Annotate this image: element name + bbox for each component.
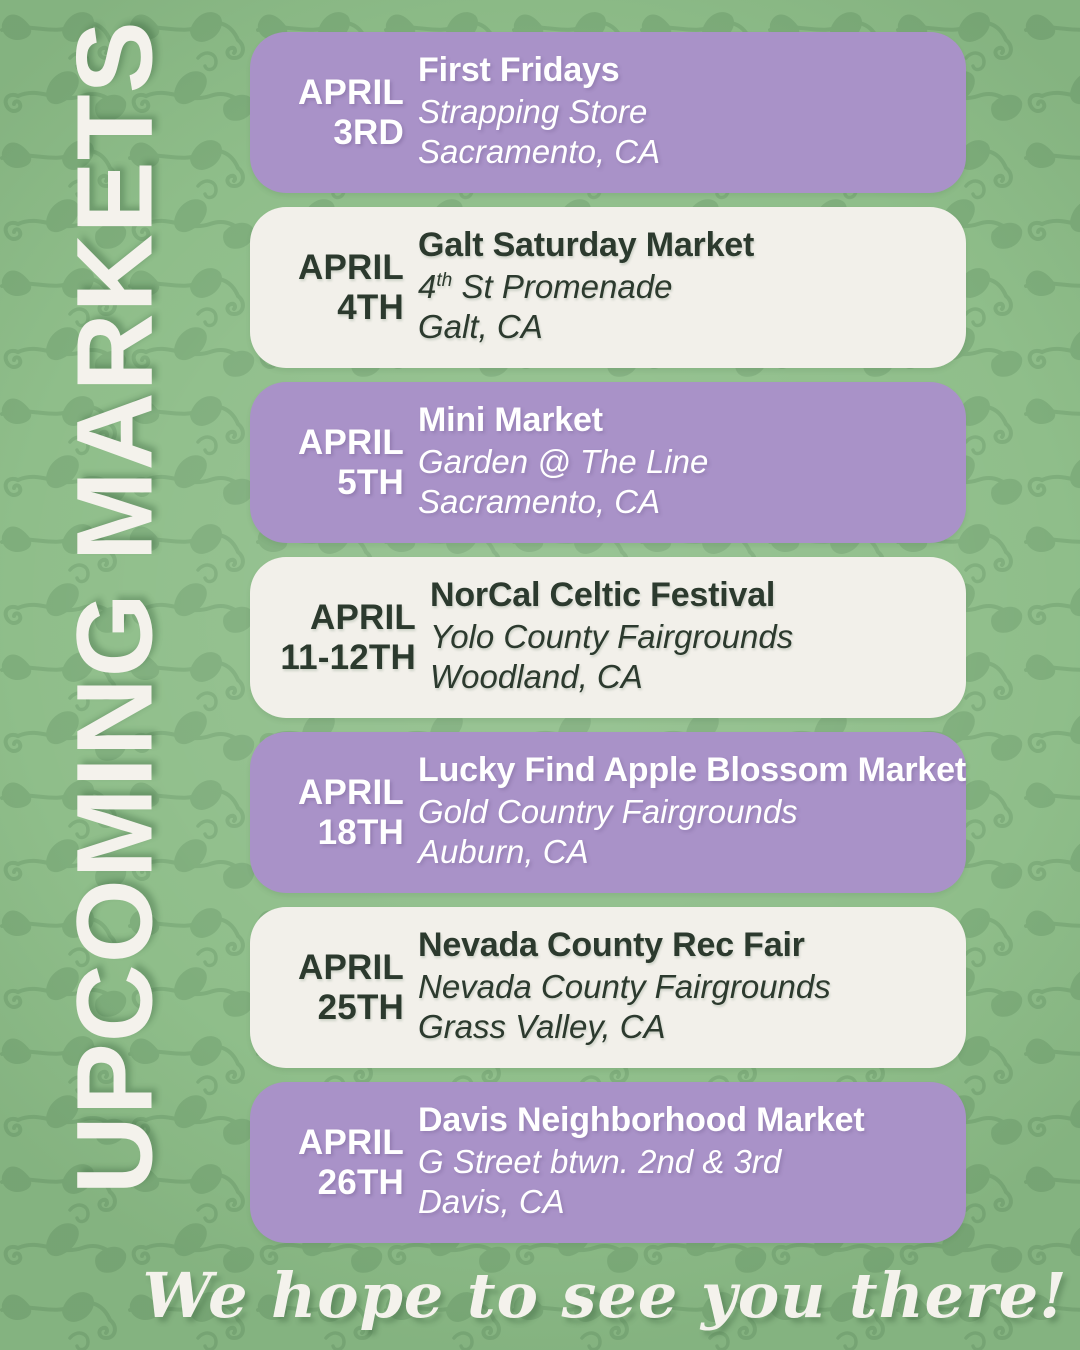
event-date: APRIL 11-12TH bbox=[264, 598, 430, 678]
event-month: APRIL bbox=[264, 248, 404, 288]
event-date: APRIL 18TH bbox=[264, 773, 418, 853]
event-venue: 4th St Promenade bbox=[418, 269, 948, 306]
event-date: APRIL 25TH bbox=[264, 948, 418, 1028]
event-name: Lucky Find Apple Blossom Market bbox=[418, 751, 948, 789]
event-city: Sacramento, CA bbox=[418, 484, 948, 521]
event-card-list: APRIL 3RD First Fridays Strapping Store … bbox=[250, 32, 966, 1257]
event-day: 11-12TH bbox=[264, 638, 416, 678]
event-month: APRIL bbox=[264, 948, 404, 988]
event-city: Woodland, CA bbox=[430, 659, 948, 696]
event-card[interactable]: APRIL 3RD First Fridays Strapping Store … bbox=[250, 32, 966, 193]
event-card[interactable]: APRIL 18TH Lucky Find Apple Blossom Mark… bbox=[250, 732, 966, 893]
event-card[interactable]: APRIL 11-12TH NorCal Celtic Festival Yol… bbox=[250, 557, 966, 718]
event-name: Galt Saturday Market bbox=[418, 226, 948, 264]
event-day: 26TH bbox=[264, 1163, 404, 1203]
event-city: Davis, CA bbox=[418, 1184, 948, 1221]
event-day: 25TH bbox=[264, 988, 404, 1028]
event-venue: Gold Country Fairgrounds bbox=[418, 794, 948, 831]
event-info: Mini Market Garden @ The Line Sacramento… bbox=[418, 401, 948, 524]
event-day: 18TH bbox=[264, 813, 404, 853]
event-card[interactable]: APRIL 25TH Nevada County Rec Fair Nevada… bbox=[250, 907, 966, 1068]
event-info: Lucky Find Apple Blossom Market Gold Cou… bbox=[418, 751, 948, 874]
event-info: Nevada County Rec Fair Nevada County Fai… bbox=[418, 926, 948, 1049]
event-card[interactable]: APRIL 4TH Galt Saturday Market 4th St Pr… bbox=[250, 207, 966, 368]
event-month: APRIL bbox=[264, 773, 404, 813]
poster-canvas: UPCOMING MARKETS APRIL 3RD First Fridays… bbox=[0, 0, 1080, 1350]
event-info: First Fridays Strapping Store Sacramento… bbox=[418, 51, 948, 174]
event-card[interactable]: APRIL 5TH Mini Market Garden @ The Line … bbox=[250, 382, 966, 543]
event-venue: Nevada County Fairgrounds bbox=[418, 969, 948, 1006]
event-venue: Garden @ The Line bbox=[418, 444, 948, 481]
event-date: APRIL 4TH bbox=[264, 248, 418, 328]
event-city: Sacramento, CA bbox=[418, 134, 948, 171]
event-info: NorCal Celtic Festival Yolo County Fairg… bbox=[430, 576, 948, 699]
page-title: UPCOMING MARKETS bbox=[64, 134, 167, 1194]
event-name: Davis Neighborhood Market bbox=[418, 1101, 948, 1139]
event-info: Galt Saturday Market 4th St Promenade Ga… bbox=[418, 226, 948, 349]
event-name: Mini Market bbox=[418, 401, 948, 439]
event-info: Davis Neighborhood Market G Street btwn.… bbox=[418, 1101, 948, 1224]
event-city: Grass Valley, CA bbox=[418, 1009, 948, 1046]
event-date: APRIL 3RD bbox=[264, 73, 418, 153]
event-city: Auburn, CA bbox=[418, 834, 948, 871]
event-venue: Yolo County Fairgrounds bbox=[430, 619, 948, 656]
event-date: APRIL 5TH bbox=[264, 423, 418, 503]
vertical-title-rail: UPCOMING MARKETS bbox=[0, 0, 230, 1350]
event-day: 3RD bbox=[264, 113, 404, 153]
event-month: APRIL bbox=[264, 1123, 404, 1163]
event-city: Galt, CA bbox=[418, 309, 948, 346]
event-name: Nevada County Rec Fair bbox=[418, 926, 948, 964]
event-card[interactable]: APRIL 26TH Davis Neighborhood Market G S… bbox=[250, 1082, 966, 1243]
event-venue: Strapping Store bbox=[418, 94, 948, 131]
event-month: APRIL bbox=[264, 598, 416, 638]
event-name: First Fridays bbox=[418, 51, 948, 89]
footer-message: We hope to see you there! bbox=[0, 1259, 1080, 1332]
event-name: NorCal Celtic Festival bbox=[430, 576, 948, 614]
event-month: APRIL bbox=[264, 73, 404, 113]
event-day: 4TH bbox=[264, 288, 404, 328]
event-day: 5TH bbox=[264, 463, 404, 503]
event-month: APRIL bbox=[264, 423, 404, 463]
event-venue: G Street btwn. 2nd & 3rd bbox=[418, 1144, 948, 1181]
ordinal-suffix: th bbox=[436, 270, 452, 291]
event-date: APRIL 26TH bbox=[264, 1123, 418, 1203]
